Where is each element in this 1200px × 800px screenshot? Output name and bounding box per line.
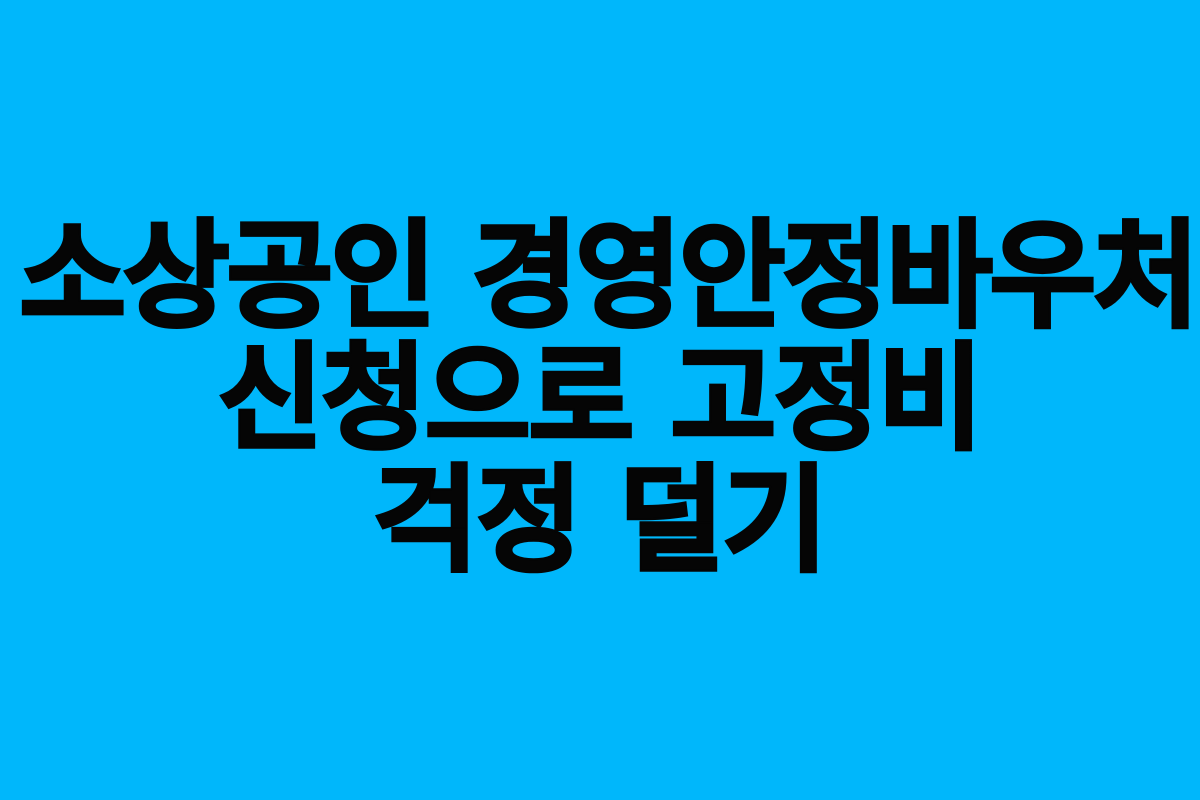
headline-block: 소상공인 경영안정바우처 신청으로 고정비 걱정 덜기 xyxy=(0,216,1200,582)
headline-line-1: 소상공인 경영안정바우처 xyxy=(20,216,1180,338)
headline-line-3: 걱정 덜기 xyxy=(20,460,1180,582)
headline-line-2: 신청으로 고정비 xyxy=(20,338,1180,460)
promo-banner: 소상공인 경영안정바우처 신청으로 고정비 걱정 덜기 xyxy=(0,0,1200,800)
